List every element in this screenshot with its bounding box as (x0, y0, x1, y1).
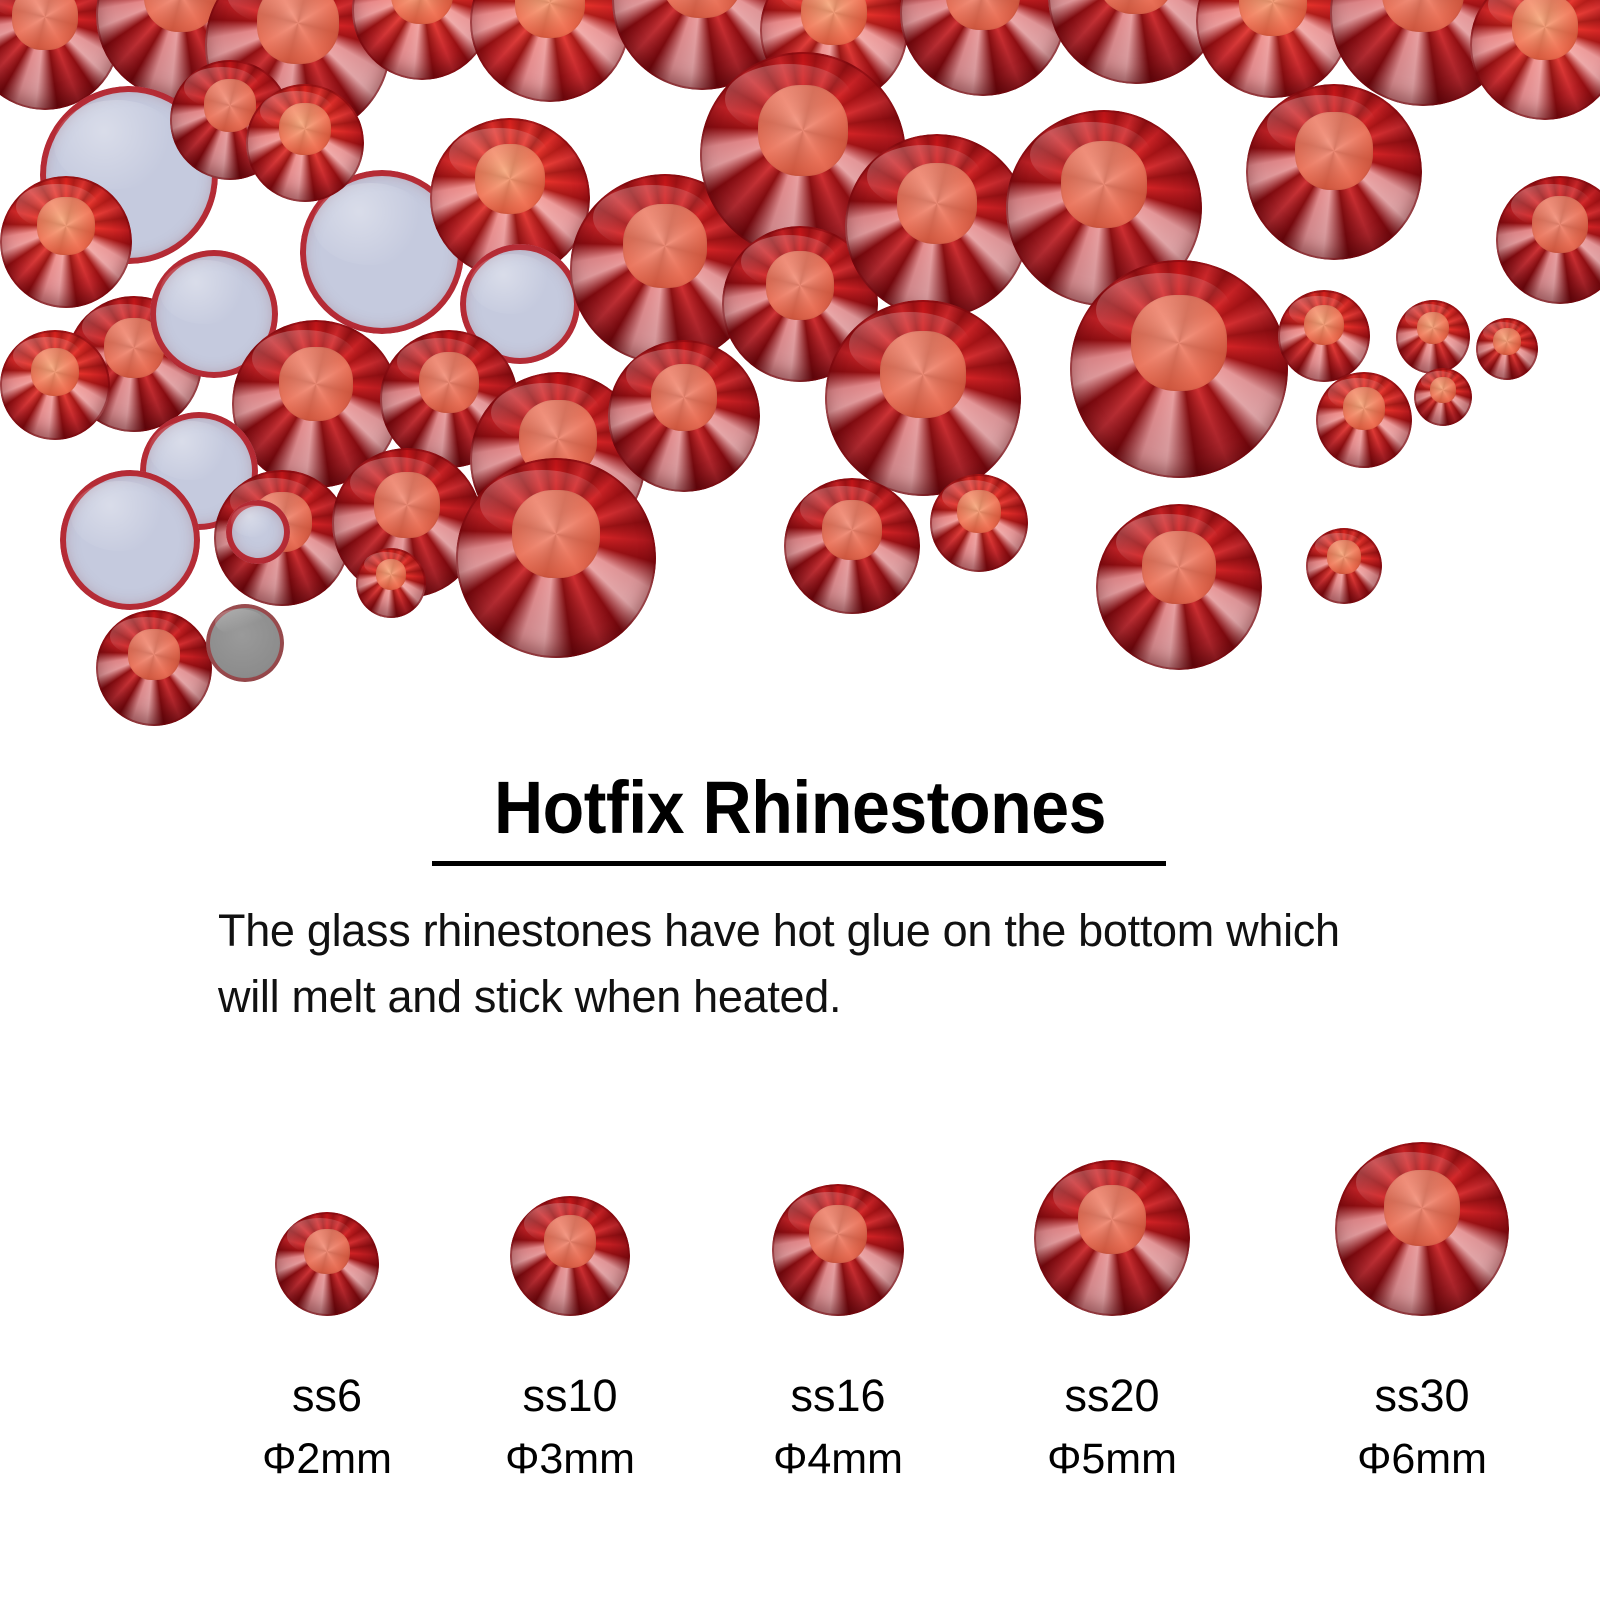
size-chart-name: ss10 (522, 1370, 617, 1422)
gem-gloss (788, 1192, 870, 1237)
size-chart-gem (1034, 1160, 1190, 1316)
gem-gloss (1030, 122, 1152, 189)
gem-gloss (1483, 322, 1521, 343)
rhinestone-gem (0, 176, 132, 308)
size-chart-diameter: Φ3mm (505, 1435, 635, 1484)
size-chart-name: ss16 (790, 1370, 885, 1422)
rhinestone-gem (1278, 290, 1370, 382)
rhinestone-gem (510, 1196, 630, 1316)
rhinestone-gem (456, 458, 656, 658)
gem-gloss (524, 1203, 598, 1244)
gem-gloss (215, 609, 263, 636)
rhinestone-gem (784, 478, 920, 614)
rhinestone-gem (1476, 318, 1538, 380)
gem-gloss (942, 480, 1003, 513)
size-chart-diameter: Φ4mm (773, 1435, 903, 1484)
gem-gloss (867, 145, 981, 208)
gem-gloss (71, 481, 169, 551)
rhinestone-gem (900, 0, 1066, 96)
gem-gloss (1421, 371, 1457, 391)
gem-rim (900, 0, 1066, 96)
rhinestone-gem (825, 300, 1021, 496)
gem-gloss (160, 260, 250, 324)
gem-gloss (800, 486, 884, 532)
gem-gloss (1328, 378, 1388, 411)
rhinestone-gem (772, 1184, 904, 1316)
size-chart-item: ss10Φ3mm (465, 1120, 675, 1316)
rhinestone-gem (1496, 176, 1600, 304)
rhinestone-gem (246, 84, 364, 202)
page-title: Hotfix Rhinestones (64, 765, 1536, 850)
gem-gloss (1267, 95, 1376, 155)
gem-gloss (231, 505, 276, 537)
size-chart-item: ss16Φ4mm (733, 1120, 943, 1316)
gem-gloss (491, 383, 600, 443)
gem-gloss (725, 64, 853, 134)
rhinestone-gem (1306, 528, 1382, 604)
gem-gloss (1289, 296, 1346, 327)
product-infographic: Hotfix Rhinestones The glass rhinestones… (0, 0, 1600, 1600)
size-chart-name: ss6 (292, 1370, 362, 1422)
size-chart-item: ss30Φ6mm (1317, 1120, 1527, 1316)
rhinestone-gem (930, 474, 1028, 572)
size-chart-gem (1335, 1142, 1509, 1316)
gem-gloss (1511, 184, 1590, 228)
size-chart-diameter: Φ5mm (1047, 1435, 1177, 1484)
gem-gloss (480, 470, 604, 538)
rhinestone-gem (1070, 260, 1288, 478)
gem-gloss (397, 338, 483, 385)
rhinestone-scatter-image (0, 0, 1600, 760)
gem-rim (470, 0, 630, 102)
gem-gloss (110, 617, 182, 656)
size-chart-item: ss20Φ5mm (1007, 1120, 1217, 1316)
size-chart-gem (275, 1212, 379, 1316)
rhinestone-gem (356, 548, 426, 618)
size-chart-name: ss20 (1064, 1370, 1159, 1422)
size-chart: ss6Φ2mmss10Φ3mmss16Φ4mmss20Φ5mmss30Φ6mm (120, 1120, 1520, 1540)
rhinestone-gem (0, 330, 110, 440)
rhinestone-gem (96, 610, 212, 726)
title-divider (432, 861, 1166, 866)
rhinestone-gem (608, 340, 760, 492)
gem-gloss (1096, 273, 1231, 347)
size-chart-gem (510, 1196, 630, 1316)
gem-gloss (626, 349, 720, 401)
rhinestone-foil-backing (206, 604, 284, 682)
gem-gloss (13, 337, 81, 374)
rhinestone-gem (1096, 504, 1262, 670)
size-chart-diameter: Φ6mm (1357, 1435, 1487, 1484)
rhinestone-gem (1316, 372, 1412, 468)
rhinestone-glue-backing (60, 470, 200, 610)
gem-gloss (350, 457, 443, 508)
gem-gloss (449, 128, 548, 182)
rhinestone-gem (1414, 368, 1472, 426)
gem-gloss (184, 67, 258, 108)
gem-gloss (1116, 514, 1219, 570)
size-chart-item: ss6Φ2mm (222, 1120, 432, 1316)
rhinestone-gem (1335, 1142, 1509, 1316)
product-description: The glass rhinestones have hot glue on t… (218, 898, 1398, 1030)
rhinestone-gem (1246, 84, 1422, 260)
size-chart-diameter: Φ2mm (262, 1435, 392, 1484)
gem-gloss (364, 552, 407, 576)
rhinestone-gem (1470, 0, 1600, 120)
rhinestone-gem (275, 1212, 379, 1316)
rhinestone-gem (1396, 300, 1470, 374)
gem-gloss (1356, 1152, 1464, 1211)
gem-gloss (470, 254, 554, 314)
gem-gloss (593, 185, 711, 250)
rhinestone-gem (1034, 1160, 1190, 1316)
gem-gloss (252, 330, 356, 387)
gem-gloss (849, 312, 971, 379)
rhinestone-gem (845, 134, 1029, 318)
rhinestone-glue-backing (226, 500, 290, 564)
size-chart-name: ss30 (1374, 1370, 1469, 1422)
size-chart-gem (772, 1184, 904, 1316)
gem-gloss (16, 184, 98, 229)
gem-gloss (287, 1218, 351, 1253)
gem-gloss (1405, 304, 1451, 329)
rhinestone-gem (470, 0, 630, 102)
